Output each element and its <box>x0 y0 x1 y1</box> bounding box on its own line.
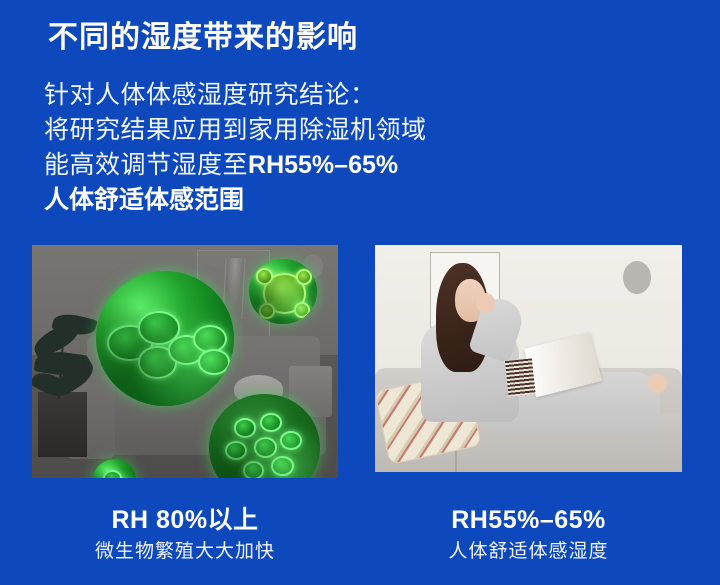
humidity-infographic-poster: 不同的湿度带来的影响 针对人体体感湿度研究结论： 将研究结果应用到家用除湿机领域… <box>0 0 720 585</box>
microbe-spore-icon <box>209 394 319 478</box>
virus-spike <box>294 302 310 318</box>
microbe-cell <box>138 346 178 378</box>
microbe-cell <box>107 325 152 361</box>
microbe-cell <box>234 418 257 438</box>
caption-subtitle: 微生物繁殖大大加快 <box>32 539 338 564</box>
microbe-cell <box>254 437 278 458</box>
caption-title: RH55%–65% <box>375 505 682 535</box>
intro-line-3-prefix: 能高效调节湿度至 <box>44 151 248 179</box>
intro-line-2: 将研究结果应用到家用除湿机领域 <box>44 113 427 148</box>
microbe-cell <box>193 325 227 353</box>
microbe-cell <box>168 335 205 365</box>
caption-title: RH 80%以上 <box>32 505 338 535</box>
caption-subtitle: 人体舒适体感湿度 <box>375 539 682 564</box>
intro-line-3-emphasis: RH55%–65% <box>248 151 398 179</box>
caption-high-humidity: RH 80%以上 微生物繁殖大大加快 <box>32 505 338 564</box>
intro-line-1: 针对人体体感湿度研究结论： <box>44 78 427 113</box>
intro-line-4: 人体舒适体感范围 <box>44 183 427 218</box>
microbe-cell <box>138 311 181 345</box>
microbe-cell <box>225 441 247 460</box>
microbe-cell <box>271 456 294 476</box>
person-foot <box>648 374 666 392</box>
virus-core <box>263 273 306 314</box>
microbe-virus-icon <box>249 259 316 324</box>
person-hand <box>476 293 494 313</box>
panel-comfort-humidity-image <box>375 245 682 472</box>
microbe-cell <box>198 349 230 375</box>
wall-speaker-icon <box>623 261 651 294</box>
microbe-cell <box>103 470 122 478</box>
page-title: 不同的湿度带来的影响 <box>48 18 358 58</box>
panel-high-humidity-image <box>32 245 338 478</box>
microbe-cell <box>260 413 282 432</box>
bright-living-room-scene <box>375 245 682 472</box>
microbe-small-icon <box>93 459 136 478</box>
microbe-cell <box>280 431 302 450</box>
dim-living-room-scene <box>32 245 338 478</box>
microbe-cluster-icon <box>96 271 234 406</box>
intro-line-3: 能高效调节湿度至RH55%–65% <box>44 148 427 183</box>
microbe-cell <box>243 461 265 478</box>
plant-pot <box>38 392 87 457</box>
virus-spike <box>259 303 275 319</box>
virus-spike <box>296 269 312 285</box>
caption-comfort-humidity: RH55%–65% 人体舒适体感湿度 <box>375 505 682 564</box>
intro-copy: 针对人体体感湿度研究结论： 将研究结果应用到家用除湿机领域 能高效调节湿度至RH… <box>44 78 427 218</box>
virus-spike <box>256 268 273 285</box>
